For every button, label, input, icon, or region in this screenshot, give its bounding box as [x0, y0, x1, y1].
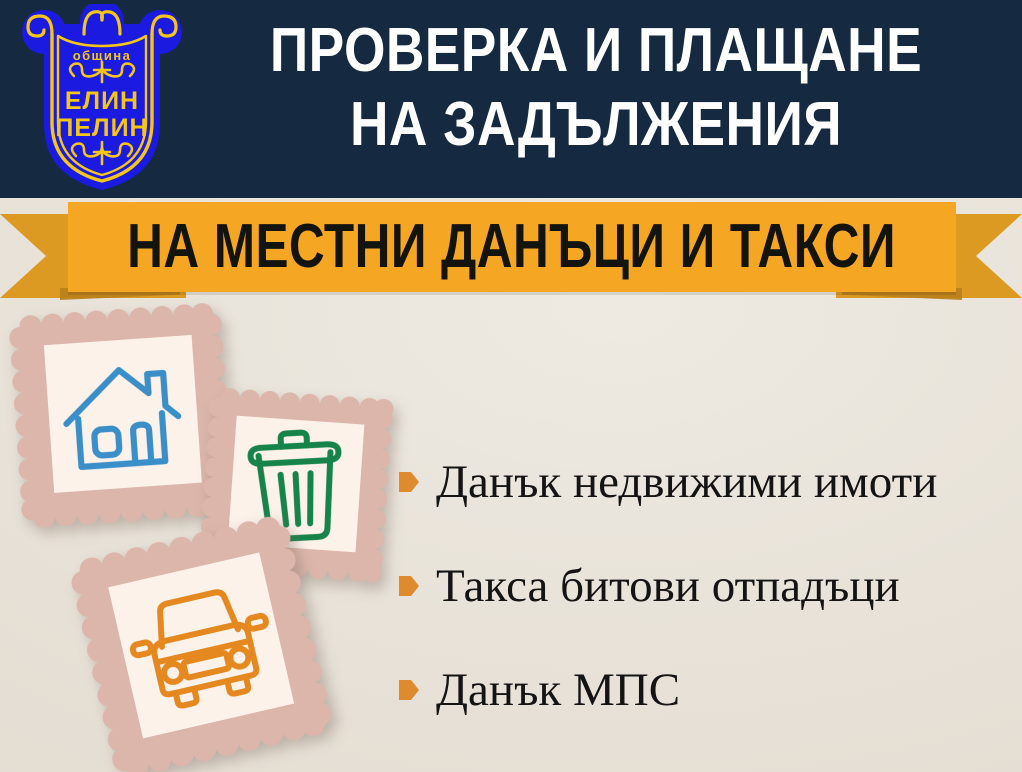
coat-of-arms-icon: община ЕЛИН ПЕЛИН — [22, 4, 182, 194]
svg-text:ЕЛИН: ЕЛИН — [65, 87, 139, 115]
page-title-line-1: ПРОВЕРКА И ПЛАЩАНЕ — [247, 14, 945, 88]
list-item-label: Данък недвижими имоти — [436, 456, 937, 508]
list-item-label: Такса битови отпадъци — [436, 560, 900, 612]
list-item[interactable]: Данък недвижими имоти — [398, 430, 1008, 534]
svg-text:ПЕЛИН: ПЕЛИН — [55, 114, 148, 142]
subtitle-ribbon: НА МЕСТНИ ДАНЪЦИ И ТАКСИ — [0, 196, 1022, 308]
tax-type-list: Данък недвижими имоти Такса битови отпад… — [398, 430, 1008, 742]
municipality-emblem: община ЕЛИН ПЕЛИН — [22, 4, 182, 194]
ribbon-label: НА МЕСТНИ ДАНЪЦИ И ТАКСИ — [128, 216, 897, 278]
bullet-arrow-icon — [398, 677, 420, 703]
bullet-arrow-icon — [398, 469, 420, 495]
poster-canvas: община ЕЛИН ПЕЛИН — [0, 0, 1022, 772]
header-bar: община ЕЛИН ПЕЛИН — [0, 0, 1022, 198]
bullet-arrow-icon — [398, 573, 420, 599]
ribbon-label-wrap: НА МЕСТНИ ДАНЪЦИ И ТАКСИ — [68, 202, 956, 292]
list-item[interactable]: Данък МПС — [398, 638, 1008, 742]
page-title: ПРОВЕРКА И ПЛАЩАНЕ НА ЗАДЪЛЖЕНИЯ — [247, 14, 945, 162]
list-item-label: Данък МПС — [436, 664, 680, 716]
list-item[interactable]: Такса битови отпадъци — [398, 534, 1008, 638]
page-title-line-2: НА ЗАДЪЛЖЕНИЯ — [247, 88, 945, 162]
